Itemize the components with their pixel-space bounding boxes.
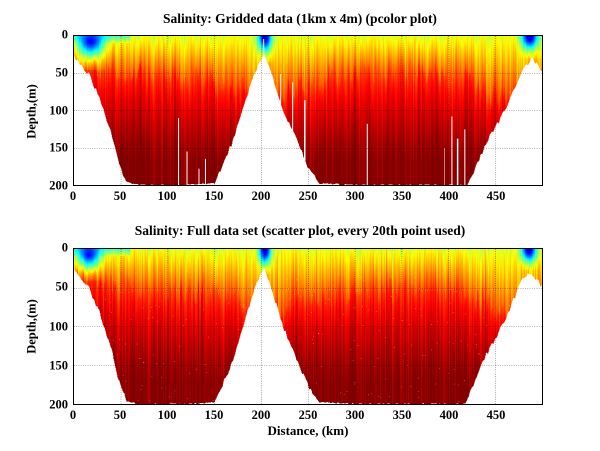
bottom-plot-title: Salinity: Full data set (scatter plot, e… <box>0 223 600 239</box>
top-xtick-350: 350 <box>393 189 412 204</box>
bottom-ytick-0: 0 <box>40 241 68 256</box>
bottom-xtick-0: 0 <box>70 408 76 423</box>
top-section-image <box>74 36 542 185</box>
bottom-xtick-300: 300 <box>346 408 365 423</box>
top-xtick-250: 250 <box>299 189 318 204</box>
top-plot-title: Salinity: Gridded data (1km x 4m) (pcolo… <box>0 11 600 27</box>
bottom-xlabel: Distance, (km) <box>73 423 543 439</box>
top-ytick-100: 100 <box>40 103 68 118</box>
top-xtick-300: 300 <box>346 189 365 204</box>
top-xtick-200: 200 <box>252 189 271 204</box>
top-xtick-100: 100 <box>158 189 177 204</box>
bottom-section-image <box>74 249 542 404</box>
bottom-xtick-450: 450 <box>487 408 506 423</box>
bottom-xtick-50: 50 <box>114 408 127 423</box>
top-ytick-200: 200 <box>40 179 68 194</box>
top-axes <box>73 35 543 186</box>
bottom-ytick-200: 200 <box>40 398 68 413</box>
top-ytick-50: 50 <box>40 65 68 80</box>
bottom-xtick-400: 400 <box>440 408 459 423</box>
bottom-ytick-50: 50 <box>40 280 68 295</box>
bottom-xtick-350: 350 <box>393 408 412 423</box>
subplot-bottom: Salinity: Full data set (scatter plot, e… <box>0 215 600 451</box>
bottom-xtick-100: 100 <box>158 408 177 423</box>
bottom-ytick-150: 150 <box>40 358 68 373</box>
bottom-ytick-100: 100 <box>40 319 68 334</box>
top-ytick-0: 0 <box>40 28 68 43</box>
figure-canvas: Salinity: Gridded data (1km x 4m) (pcolo… <box>0 0 600 451</box>
bottom-ylabel: Depth,(m) <box>25 292 40 362</box>
bottom-xtick-200: 200 <box>252 408 271 423</box>
top-xtick-450: 450 <box>487 189 506 204</box>
top-ylabel: Depth,(m) <box>25 77 40 147</box>
top-xtick-150: 150 <box>205 189 224 204</box>
bottom-xtick-250: 250 <box>299 408 318 423</box>
subplot-top: Salinity: Gridded data (1km x 4m) (pcolo… <box>0 0 600 215</box>
bottom-xtick-150: 150 <box>205 408 224 423</box>
top-ytick-150: 150 <box>40 141 68 156</box>
top-xtick-50: 50 <box>114 189 127 204</box>
bottom-axes <box>73 248 543 405</box>
top-xtick-0: 0 <box>70 189 76 204</box>
top-xtick-400: 400 <box>440 189 459 204</box>
